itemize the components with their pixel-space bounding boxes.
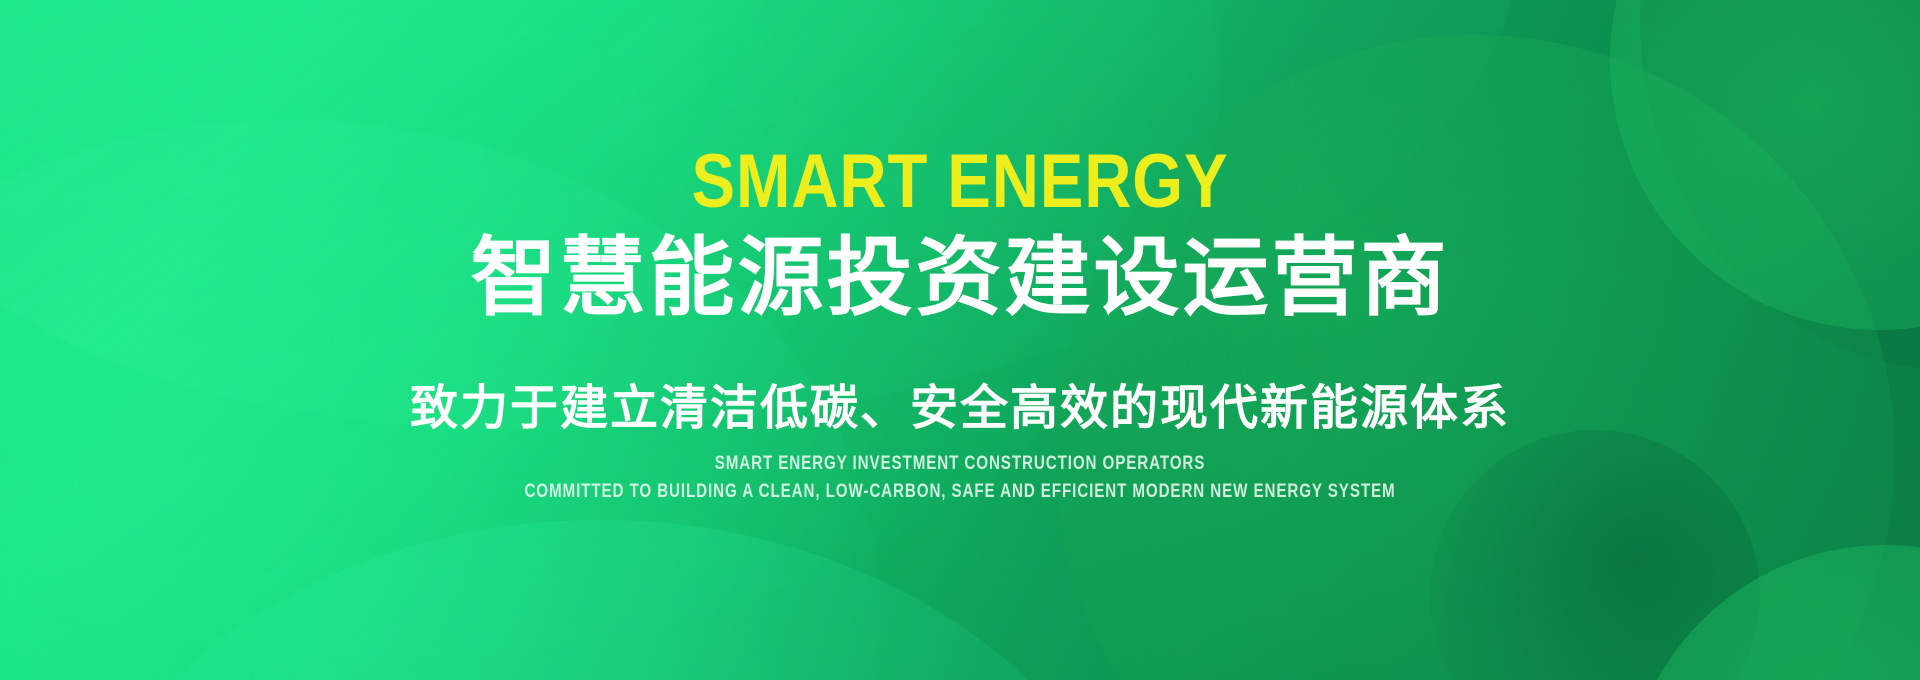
hero-banner: SMART ENERGY 智慧能源投资建设运营商 致力于建立清洁低碳、安全高效的… (0, 0, 1920, 680)
banner-title-english: SMART ENERGY (134, 140, 1785, 224)
banner-title-chinese: 智慧能源投资建设运营商 (0, 228, 1920, 328)
banner-subtitle-chinese: 致力于建立清洁低碳、安全高效的现代新能源体系 (0, 380, 1920, 438)
banner-content: SMART ENERGY 智慧能源投资建设运营商 致力于建立清洁低碳、安全高效的… (0, 0, 1920, 680)
banner-subtitle-english-line-2: COMMITTED TO BUILDING A CLEAN, LOW-CARBO… (192, 480, 1728, 504)
banner-subtitle-english-line-1: SMART ENERGY INVESTMENT CONSTRUCTION OPE… (192, 452, 1728, 476)
